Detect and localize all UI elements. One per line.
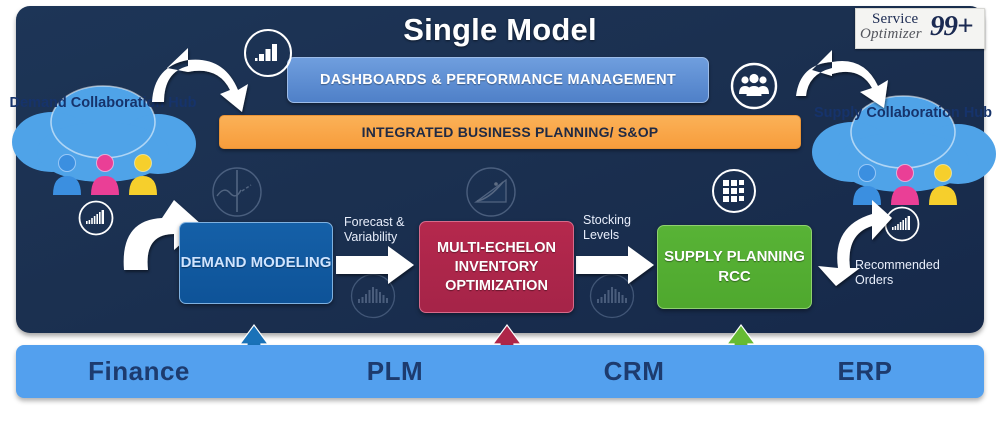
platform-label-plm: PLM — [367, 356, 423, 387]
histogram-icon — [350, 273, 396, 319]
supply-planning-rcc-box[interactable]: SUPPLY PLANNING RCC — [657, 225, 812, 309]
recommended-orders-label: Recommended Orders — [855, 258, 949, 288]
supply-collaboration-hub[interactable]: Supply Collaboration Hub — [808, 86, 998, 216]
integrated-business-planning-label: INTEGRATED BUSINESS PLANNING/ S&OP — [362, 124, 659, 140]
people-avatars — [850, 160, 960, 208]
grid-matrix-icon — [711, 168, 757, 214]
forecast-variability-label: Forecast & Variability — [344, 215, 406, 245]
histogram-icon — [589, 273, 635, 319]
product-logo: Service Optimizer 99+ — [855, 8, 985, 49]
trend-up-icon — [465, 166, 517, 218]
dashboards-performance-label: DASHBOARDS & PERFORMANCE MANAGEMENT — [320, 71, 676, 89]
demand-modeling-label: DEMAND MODELING — [181, 253, 332, 273]
demand-collaboration-hub[interactable]: Demand Collaboration Hub — [8, 76, 198, 206]
people-group-icon — [730, 62, 778, 110]
platform-item-erp[interactable]: ERP — [780, 345, 950, 398]
multi-echelon-inventory-optimization-box[interactable]: MULTI-ECHELON INVENTORY OPTIMIZATION — [419, 221, 574, 313]
page-title: Single Model — [300, 12, 700, 48]
people-avatars — [50, 150, 160, 198]
supply-planning-label: SUPPLY PLANNING RCC — [658, 247, 811, 287]
bar-chart-icon — [243, 28, 293, 78]
logo-line-99plus: 99+ — [930, 10, 973, 43]
meio-label: MULTI-ECHELON INVENTORY OPTIMIZATION — [420, 239, 573, 296]
integrated-business-planning-bar[interactable]: INTEGRATED BUSINESS PLANNING/ S&OP — [219, 115, 801, 149]
forecast-curve-icon — [211, 166, 263, 218]
platform-item-plm[interactable]: PLM — [310, 345, 480, 398]
platform-item-crm[interactable]: CRM — [549, 345, 719, 398]
dashboards-performance-bar[interactable]: DASHBOARDS & PERFORMANCE MANAGEMENT — [287, 57, 709, 103]
platform-item-finance[interactable]: Finance — [54, 345, 224, 398]
platform-label-crm: CRM — [604, 356, 665, 387]
platform-label-finance: Finance — [88, 356, 190, 387]
stocking-levels-label: Stocking Levels — [583, 213, 643, 243]
platform-label-erp: ERP — [838, 356, 893, 387]
demand-modeling-box[interactable]: DEMAND MODELING — [179, 222, 333, 304]
logo-line-optimizer: Optimizer — [860, 26, 922, 43]
